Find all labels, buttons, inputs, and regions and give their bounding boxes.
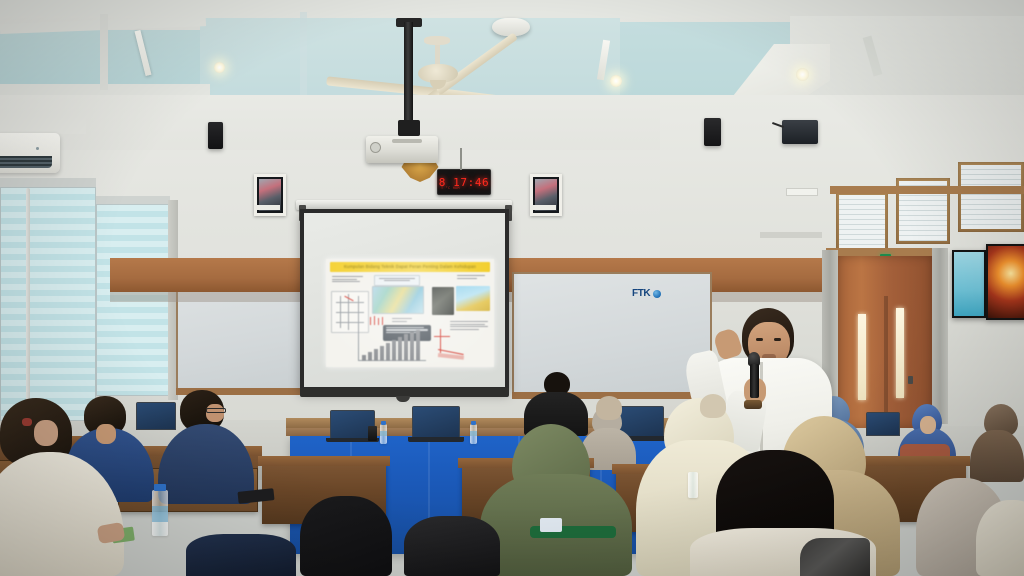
slide-rig-caption (457, 275, 489, 284)
water-bottle-desk-left[interactable] (152, 490, 168, 536)
student-small-head-2 (700, 394, 726, 418)
poster-orange (986, 244, 1024, 320)
projection-screen[interactable]: Kumpulan Bidang Teknik Dapat Peran Penti… (300, 209, 509, 391)
presenter-eye-right (774, 338, 781, 341)
slide-icon-caption (392, 318, 414, 324)
ceiling-rib-1 (100, 14, 108, 90)
student-cream-face (34, 420, 58, 446)
fan-canopy (424, 36, 450, 45)
right-wall-trim (760, 232, 822, 238)
slide-title-text: Kumpulan Bidang Teknik Dapat Peran Penti… (330, 262, 490, 272)
ac-shelf (0, 118, 86, 134)
wall-pillar-right (932, 248, 948, 424)
student-blue-jacket-face (96, 424, 116, 444)
clock-sub-label: T °C HUM (441, 186, 460, 190)
projector-mount-joint (398, 120, 420, 136)
louver-header (830, 186, 1024, 194)
water-bottle-2-cap (471, 421, 476, 425)
window-header-left (0, 178, 96, 187)
student-cream-accessory (22, 418, 32, 426)
student-small-head-1 (596, 396, 622, 420)
led-wall-clock: 8 17:46 (437, 169, 491, 195)
desk-row1-right-top (258, 456, 390, 466)
student-dark-foreground-2 (404, 516, 500, 576)
projector-lens-icon (370, 142, 381, 153)
downlight-3 (610, 75, 622, 87)
projector-vent (392, 139, 422, 143)
student-dark-foreground (300, 496, 392, 576)
water-bottle-desk-left-cap (154, 484, 166, 491)
student-black-hair-print (800, 538, 870, 576)
door-handle-icon[interactable] (908, 376, 913, 384)
wall-speaker-right-icon (704, 118, 721, 146)
ceiling-beam-center (190, 10, 630, 18)
louver-window-3 (958, 162, 1024, 232)
downlight-1 (214, 62, 225, 73)
clock-hanger (460, 148, 462, 170)
water-bottle-1[interactable] (380, 424, 387, 444)
whiteboard-right[interactable] (512, 272, 712, 396)
student-navy-face (206, 404, 224, 422)
wall-dado-band (110, 258, 910, 292)
louver-window-1 (836, 192, 888, 254)
ftk-logo: FTK (632, 288, 661, 299)
wall-speaker-left-icon (208, 122, 223, 149)
slide-map-caption (374, 275, 420, 286)
screen-surface: Kumpulan Bidang Teknik Dapat Peran Penti… (304, 213, 505, 387)
laptop-2-base (408, 437, 464, 442)
slide-map-image (372, 286, 424, 314)
student-hijab-blue-face (920, 416, 936, 434)
water-bottle-2[interactable] (470, 424, 477, 444)
poster-blue (952, 250, 986, 318)
laptop-2[interactable] (412, 406, 460, 439)
student-navy-glasses-icon (206, 408, 226, 413)
laptop-4[interactable] (866, 412, 900, 436)
window-header-left2 (96, 196, 170, 204)
slide-bar-chart (358, 327, 426, 361)
air-conditioner-icon (0, 133, 60, 173)
downlight-4 (796, 68, 809, 81)
wall-amplifier-icon (782, 120, 818, 144)
coffee-cup[interactable] (368, 426, 377, 441)
student-hijab-brown-body (970, 430, 1024, 482)
water-bottle-desk-right[interactable] (688, 472, 698, 498)
slide-title-bar: Kumpulan Bidang Teknik Dapat Peran Penti… (330, 262, 490, 272)
presentation-slide: Kumpulan Bidang Teknik Dapat Peran Penti… (326, 259, 494, 367)
ftk-logo-mark-icon (653, 290, 661, 298)
microphone-handle[interactable] (750, 364, 759, 398)
student-navy-foreground (186, 534, 296, 576)
wall-plate (786, 188, 818, 196)
presenter-eye-left (756, 338, 763, 341)
water-bottle-1-cap (381, 421, 386, 425)
portrait-left-mat (254, 205, 280, 210)
blind-wand-left[interactable] (26, 188, 30, 400)
slide-satellite-image (432, 287, 454, 315)
wristwatch-icon (744, 400, 762, 409)
ftk-logo-text: FTK (632, 288, 650, 299)
wooden-door[interactable] (838, 256, 932, 428)
laptop-back-left[interactable] (136, 402, 176, 430)
student-olive-badge (540, 518, 562, 532)
window-blinds-left[interactable] (0, 187, 96, 421)
wall-dado-shadow (110, 292, 910, 302)
lecture-hall-photo: FTK 8 17:46 T °C HUM Kumpulan Bidang Tek… (0, 0, 1024, 576)
slide-label-flow (332, 276, 366, 288)
slide-rig-illustration (456, 286, 490, 311)
slide-body-text (450, 321, 490, 343)
portrait-right-mat (530, 205, 556, 210)
